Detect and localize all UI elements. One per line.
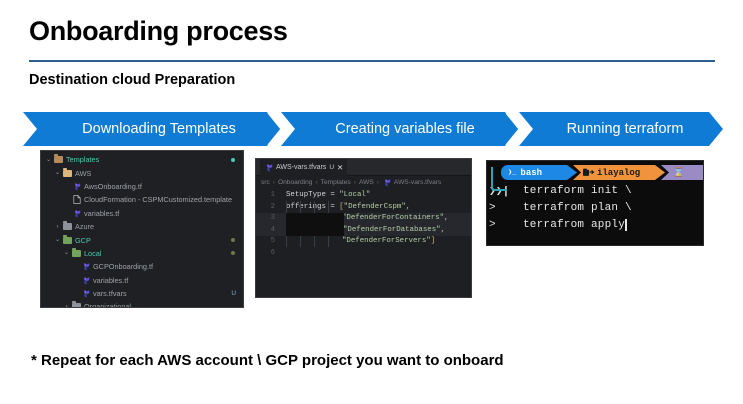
file-tree-row-label: GCPOnboarding.tf [91,262,153,271]
chevron-down-icon[interactable]: ⌄ [53,170,62,176]
editor-tabbar: AWS-vars.tfvars U ✕ [256,159,471,176]
chevron-down-icon[interactable]: ⌄ [53,237,62,243]
chevron-right-icon: › [273,179,275,186]
code-token: "Local" [339,191,370,199]
folder-green-icon [71,250,82,257]
file-tree-row[interactable]: variables.tf [41,207,243,220]
file-tree-row[interactable]: variables.tf [41,274,243,287]
breadcrumb-item-onboarding[interactable]: Onboarding [278,179,312,186]
line-number: 3 [256,213,280,225]
file-tree-row[interactable]: AwsOnboarding.tf [41,180,243,193]
terraform-file-icon [71,209,82,218]
file-tree-row-label: AwsOnboarding.tf [82,182,142,191]
file-tree[interactable]: ⌄Templates⌄AWSAwsOnboarding.tfCloudForma… [41,151,243,308]
editor-tab-aws-vars[interactable]: AWS-vars.tfvars U ✕ [260,159,347,176]
file-tree-row-label: variables.tf [91,276,128,285]
terminal-line[interactable]: >terrafrom apply [487,216,703,233]
terminal-line[interactable]: ❯❯|terraform init \ [487,182,703,199]
folder-grey-icon [62,223,73,230]
chevron-right-icon[interactable]: › [53,224,62,230]
editor-tab-modified-badge: U [329,164,334,171]
process-step-1-label: Downloading Templates [82,121,236,137]
prompt-segment-directory: ilayalog [573,165,665,180]
terraform-file-icon [80,262,91,271]
file-tree-row-label: CloudFormation - CSPMCustomized.template [82,195,232,204]
file-tree-row[interactable]: ⌄Templates [41,153,243,166]
terraform-file-icon [264,163,273,172]
file-explorer-screenshot: ⌄Templates⌄AWSAwsOnboarding.tfCloudForma… [40,150,244,308]
close-icon[interactable]: ✕ [337,164,343,172]
line-number: 4 [256,225,280,237]
terminal-line-prefix: > [487,219,523,231]
file-tree-row-label: variables.tf [82,209,119,218]
file-tree-row[interactable]: ⌄AWS [41,166,243,179]
process-step-band: Downloading Templates Creating variables… [23,112,723,146]
process-step-1[interactable]: Downloading Templates [23,112,281,146]
code-token: = [330,191,339,199]
document-file-icon [71,195,82,204]
file-tree-row-label: Azure [73,222,94,231]
title-divider [29,60,715,62]
terminal-body[interactable]: ❯_ bash ilayalog ⌛ ❯❯|terraform init \>t… [487,161,703,233]
terminal-cursor [625,219,627,231]
editor-tab-filename: AWS-vars.tfvars [276,164,326,171]
folder-green-icon [62,237,73,244]
code-editor-screenshot: AWS-vars.tfvars U ✕ src › Onboarding › T… [255,158,472,298]
file-tree-row[interactable]: ›Azure [41,220,243,233]
terminal-command-text: terrafrom apply [523,219,625,231]
code-token: "DefenderForDatabases", [343,226,445,234]
process-step-3-label: Running terraform [567,121,684,137]
chevron-right-icon: › [354,179,356,186]
page-subtitle: Destination cloud Preparation [29,72,235,88]
chevron-right-icon: › [377,179,379,186]
chevron-right-icon[interactable]: › [62,304,71,308]
selection-band [286,225,344,237]
terminal-line[interactable]: >terrafrom plan \ [487,199,703,216]
prompt-chevron-icon: ❯_ [508,168,516,177]
prompt-segment-status: ⌛ [661,165,704,180]
terraform-file-icon [382,178,391,187]
terraform-file-icon [80,289,91,298]
file-tree-row-label: Local [82,249,101,258]
folder-status-dot-icon [231,238,235,242]
breadcrumb-item-file[interactable]: AWS-vars.tfvars [394,179,441,186]
file-tree-row[interactable]: ›Organizational [41,300,243,308]
file-tree-row[interactable]: ⌄GCP [41,233,243,246]
breadcrumb-item-templates[interactable]: Templates [321,179,351,186]
folder-arrow-icon [583,168,595,177]
folder-open-highlight-icon [53,156,64,163]
prompt-elbow-connector-icon [491,167,507,191]
process-step-2[interactable]: Creating variables file [281,112,519,146]
selection-band [286,213,344,225]
chevron-down-icon[interactable]: ⌄ [62,250,71,256]
file-tree-row-label: Organizational [82,302,131,308]
terminal-command-text: terrafrom plan \ [523,202,632,214]
terminal-line-prefix: > [487,202,523,214]
prompt-shell-label: bash [520,168,542,178]
hourglass-icon: ⌛ [673,168,684,178]
code-line[interactable]: 1SetupType = "Local" [256,190,471,202]
line-number: 6 [256,248,280,260]
process-step-2-label: Creating variables file [335,121,474,137]
code-token: "DefenderForServers" [342,237,431,245]
file-tree-row-label: GCP [73,236,91,245]
file-tree-row[interactable]: vars.tfvarsU [41,287,243,300]
chevron-down-icon[interactable]: ⌄ [44,157,53,163]
file-tree-row[interactable]: GCPOnboarding.tf [41,260,243,273]
line-number: 5 [256,236,280,248]
file-tree-row-label: vars.tfvars [91,289,127,298]
terraform-file-icon [80,276,91,285]
file-tree-row[interactable]: CloudFormation - CSPMCustomized.template [41,193,243,206]
footnote: * Repeat for each AWS account \ GCP proj… [31,352,504,369]
breadcrumb[interactable]: src › Onboarding › Templates › AWS › AWS… [256,176,471,189]
file-status-badge: U [231,290,236,297]
folder-status-dot-icon [231,158,235,162]
file-tree-row-label: Templates [64,155,99,164]
line-number: 1 [256,190,280,202]
terminal-prompt-bar: ❯_ bash ilayalog ⌛ [501,165,703,180]
file-tree-row-label: AWS [73,169,91,178]
folder-yellow-icon [62,170,73,177]
folder-grey-icon [71,303,82,308]
breadcrumb-item-src[interactable]: src [261,179,270,186]
process-step-3[interactable]: Running terraform [519,112,723,146]
prompt-directory-label: ilayalog [597,168,640,178]
code-token: ] [431,237,435,245]
prompt-segment-shell: ❯_ bash [501,165,577,180]
code-line[interactable]: 6 [256,248,471,260]
code-view[interactable]: 1SetupType = "Local"2offerings = ["Defen… [256,189,471,260]
code-token: "DefenderForContainers", [342,214,448,222]
terminal-screenshot: ❯_ bash ilayalog ⌛ ❯❯|terraform init \>t… [486,160,704,246]
file-tree-row[interactable]: ⌄Local [41,247,243,260]
code-token: SetupType [286,191,330,199]
terminal-command-text: terraform init \ [523,185,632,197]
line-number: 2 [256,202,280,214]
page-title: Onboarding process [29,16,288,47]
breadcrumb-item-aws[interactable]: AWS [359,179,374,186]
code-token: "DefenderCspm", [344,203,411,211]
code-line-text: SetupType = "Local" [280,190,370,202]
chevron-right-icon: › [315,179,317,186]
folder-status-dot-icon [231,251,235,255]
terraform-file-icon [71,182,82,191]
